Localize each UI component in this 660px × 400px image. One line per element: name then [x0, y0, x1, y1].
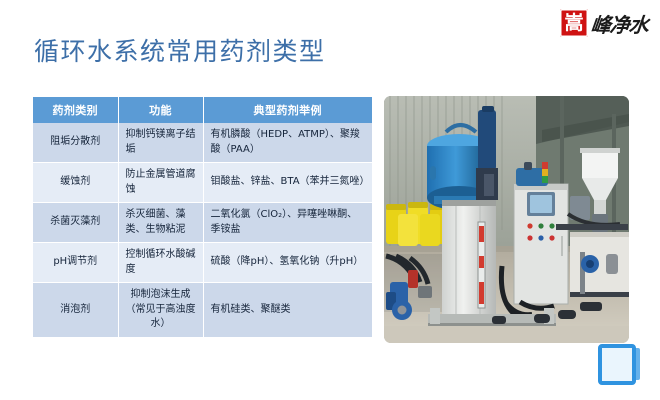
column-header-examples: 典型药剂举例: [203, 97, 372, 123]
logo-wordmark: 峰净水: [589, 9, 649, 38]
cell-examples: 硫酸（降pH）、氢氧化钠（升pH）: [203, 243, 372, 283]
seal-icon: 嵩: [560, 9, 588, 37]
cell-category: 缓蚀剂: [33, 163, 118, 203]
deco-front-square: [598, 344, 636, 385]
signal-tower-lamp: [542, 162, 548, 183]
cell-function: 控制循环水酸碱度: [118, 243, 203, 283]
column-header-function: 功能: [118, 97, 203, 123]
level-gauge: [478, 222, 485, 308]
page-title: 循环水系统常用药剂类型: [34, 32, 326, 68]
cell-examples: 有机膦酸（HEDP、ATMP）、聚羧酸（PAA）: [203, 123, 372, 163]
table-row: 阻垢分散剂 抑制钙镁离子结垢 有机膦酸（HEDP、ATMP）、聚羧酸（PAA）: [33, 123, 372, 163]
company-logo: 嵩 峰净水: [560, 6, 648, 40]
table-row: pH调节剂 控制循环水酸碱度 硫酸（降pH）、氢氧化钠（升pH）: [33, 243, 372, 283]
cell-examples: 钼酸盐、锌盐、BTA（苯并三氮唑）: [203, 163, 372, 203]
blue-document-shape-icon: [596, 342, 642, 384]
cell-function: 抑制钙镁离子结垢: [118, 123, 203, 163]
chemicals-table: 药剂类别 功能 典型药剂举例 阻垢分散剂 抑制钙镁离子结垢 有机膦酸（HEDP、…: [33, 97, 372, 338]
column-header-category: 药剂类别: [33, 97, 118, 123]
table-row: 杀菌灭藻剂 杀灭细菌、藻类、生物粘泥 二氧化氯（ClO₂）、异噻唑啉酮、季铵盐: [33, 203, 372, 243]
stainless-dosing-tank: [442, 200, 496, 318]
table-row: 消泡剂 抑制泡沫生成（常见于高浊度水） 有机硅类、聚醚类: [33, 283, 372, 338]
equipment-photo-illustration: [384, 96, 629, 343]
chemical-drums: [386, 202, 450, 246]
cell-category: pH调节剂: [33, 243, 118, 283]
chemicals-table-container: 药剂类别 功能 典型药剂举例 阻垢分散剂 抑制钙镁离子结垢 有机膦酸（HEDP、…: [33, 97, 372, 338]
cell-function: 防止金属管道腐蚀: [118, 163, 203, 203]
slide-canvas: 嵩 峰净水 循环水系统常用药剂类型 药剂类别 功能 典型药剂举例 阻垢分散剂 抑…: [0, 0, 660, 400]
equipment-photo: [384, 96, 629, 343]
cell-function: 杀灭细菌、藻类、生物粘泥: [118, 203, 203, 243]
table-row: 缓蚀剂 防止金属管道腐蚀 钼酸盐、锌盐、BTA（苯并三氮唑）: [33, 163, 372, 203]
cell-examples: 二氧化氯（ClO₂）、异噻唑啉酮、季铵盐: [203, 203, 372, 243]
table-header-row: 药剂类别 功能 典型药剂举例: [33, 97, 372, 123]
cell-examples: 有机硅类、聚醚类: [203, 283, 372, 338]
cell-category: 杀菌灭藻剂: [33, 203, 118, 243]
cell-category: 阻垢分散剂: [33, 123, 118, 163]
control-cabinet: [514, 184, 568, 304]
cell-category: 消泡剂: [33, 283, 118, 338]
cell-function: 抑制泡沫生成（常见于高浊度水）: [118, 283, 203, 338]
